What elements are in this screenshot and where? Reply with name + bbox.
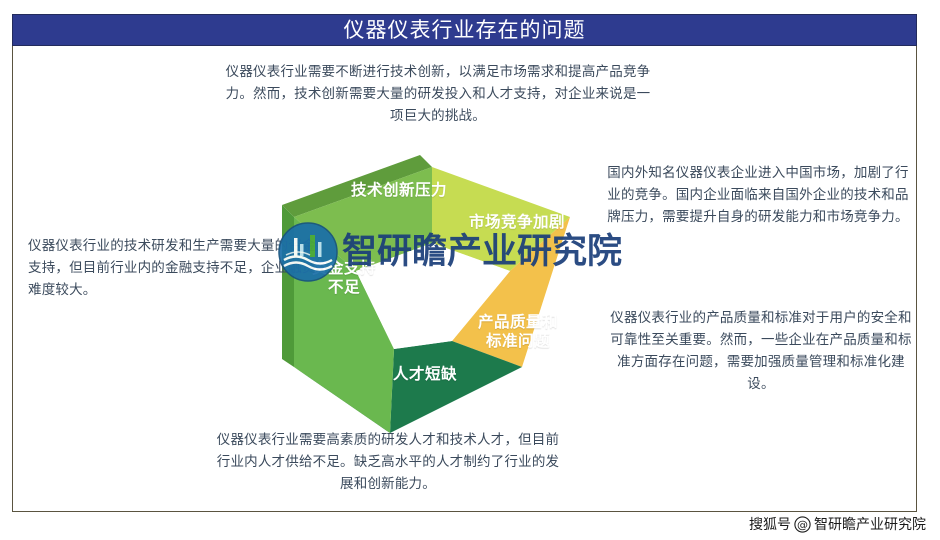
page-title: 仪器仪表行业存在的问题 bbox=[344, 20, 586, 41]
credit-prefix: 搜狐号 bbox=[749, 514, 791, 534]
slide-canvas: 仪器仪表行业存在的问题 bbox=[0, 0, 940, 540]
segment-label-market: 市场竞争加剧 bbox=[452, 213, 582, 232]
source-credit: 搜狐号 @ 智研瞻产业研究院 bbox=[749, 514, 926, 534]
at-sign-icon: @ bbox=[794, 516, 811, 533]
segment-label-quality: 产品质量和 标准问题 bbox=[460, 313, 576, 352]
callout-market-competition: 国内外知名仪器仪表企业进入中国市场，加剧了行业的竞争。国内企业面临来自国外企业的… bbox=[602, 163, 914, 229]
pentagon-diagram: 技术创新压力 市场竞争加剧 产品质量和 标准问题 人才短缺 资金支持 不足 bbox=[272, 145, 592, 435]
callout-funding-support: 仪器仪表行业的技术研发和生产需要大量的资金支持，但目前行业内的金融支持不足，企业… bbox=[28, 236, 318, 302]
credit-name: 智研瞻产业研究院 bbox=[814, 514, 926, 534]
callout-technical-innovation: 仪器仪表行业需要不断进行技术创新，以满足市场需求和提高产品竞争力。然而，技术创新… bbox=[222, 62, 654, 128]
segment-label-talent: 人才短缺 bbox=[360, 365, 490, 384]
svg-text:@: @ bbox=[797, 518, 808, 531]
callout-talent-shortage: 仪器仪表行业需要高素质的研发人才和技术人才，但目前行业内人才供给不足。缺乏高水平… bbox=[214, 430, 562, 496]
callout-product-quality: 仪器仪表行业的产品质量和标准对于用户的安全和可靠性至关重要。然而，一些企业在产品… bbox=[606, 308, 916, 395]
slide-title-bar: 仪器仪表行业存在的问题 bbox=[12, 14, 917, 46]
segment-label-tech: 技术创新压力 bbox=[324, 181, 474, 200]
